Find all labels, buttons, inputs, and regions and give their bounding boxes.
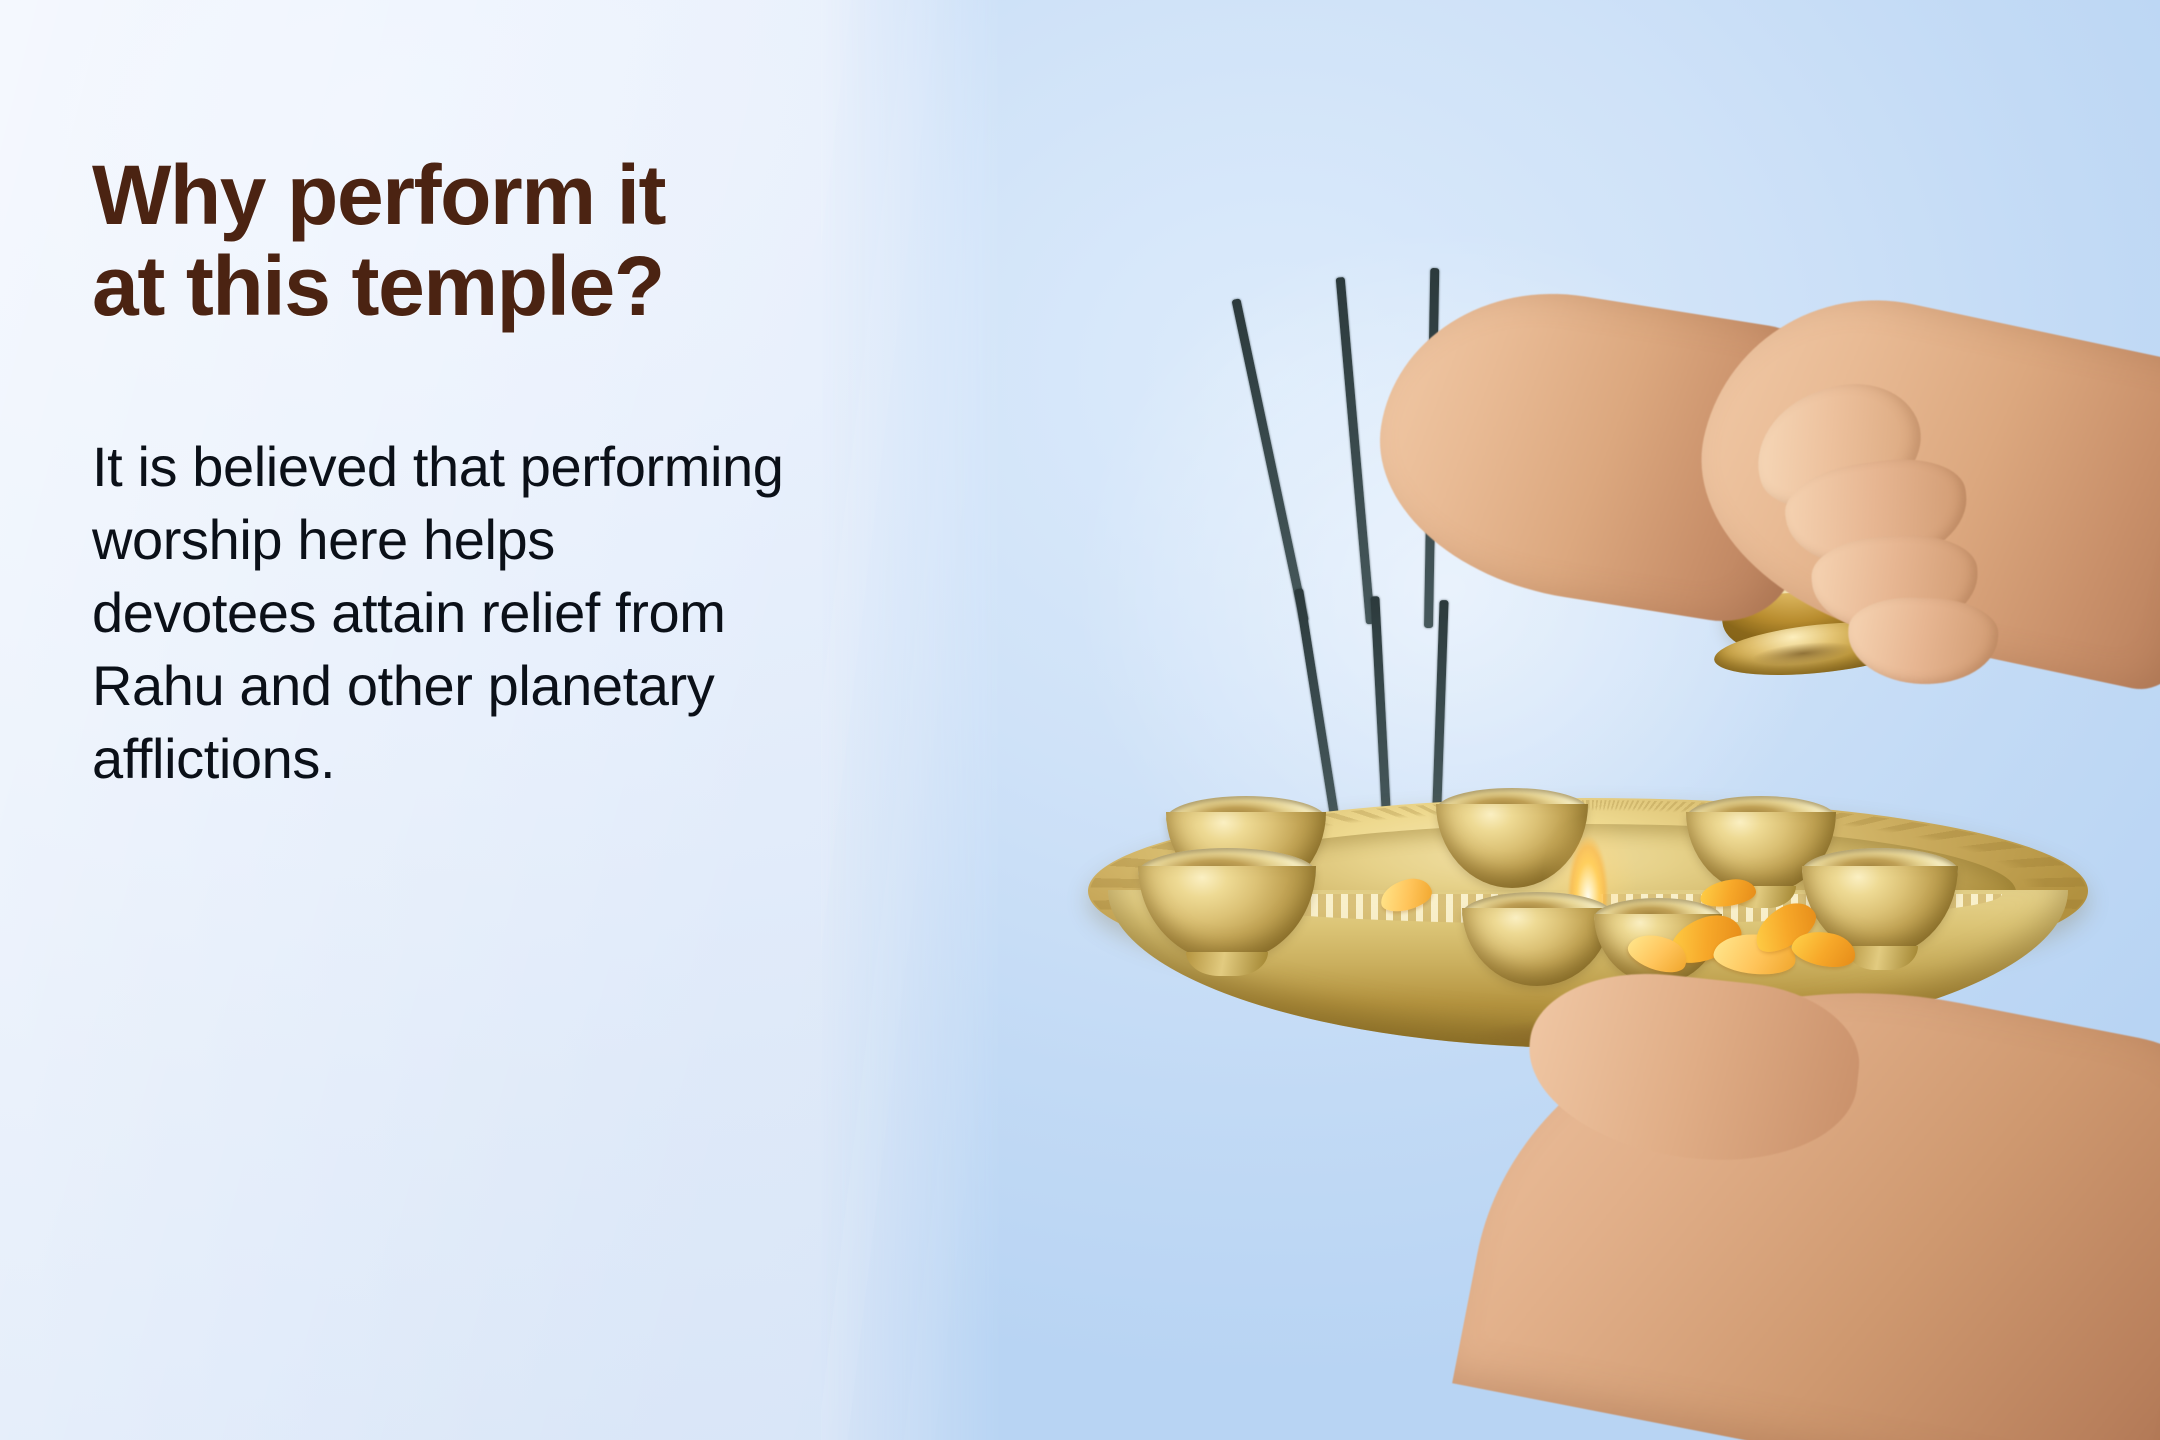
text-column: Why perform it at this temple? It is bel… [92,150,992,795]
slide-canvas: Why perform it at this temple? It is bel… [0,0,2160,1440]
body-paragraph: It is believed that performing worship h… [92,431,792,795]
page-title: Why perform it at this temple? [92,150,992,331]
